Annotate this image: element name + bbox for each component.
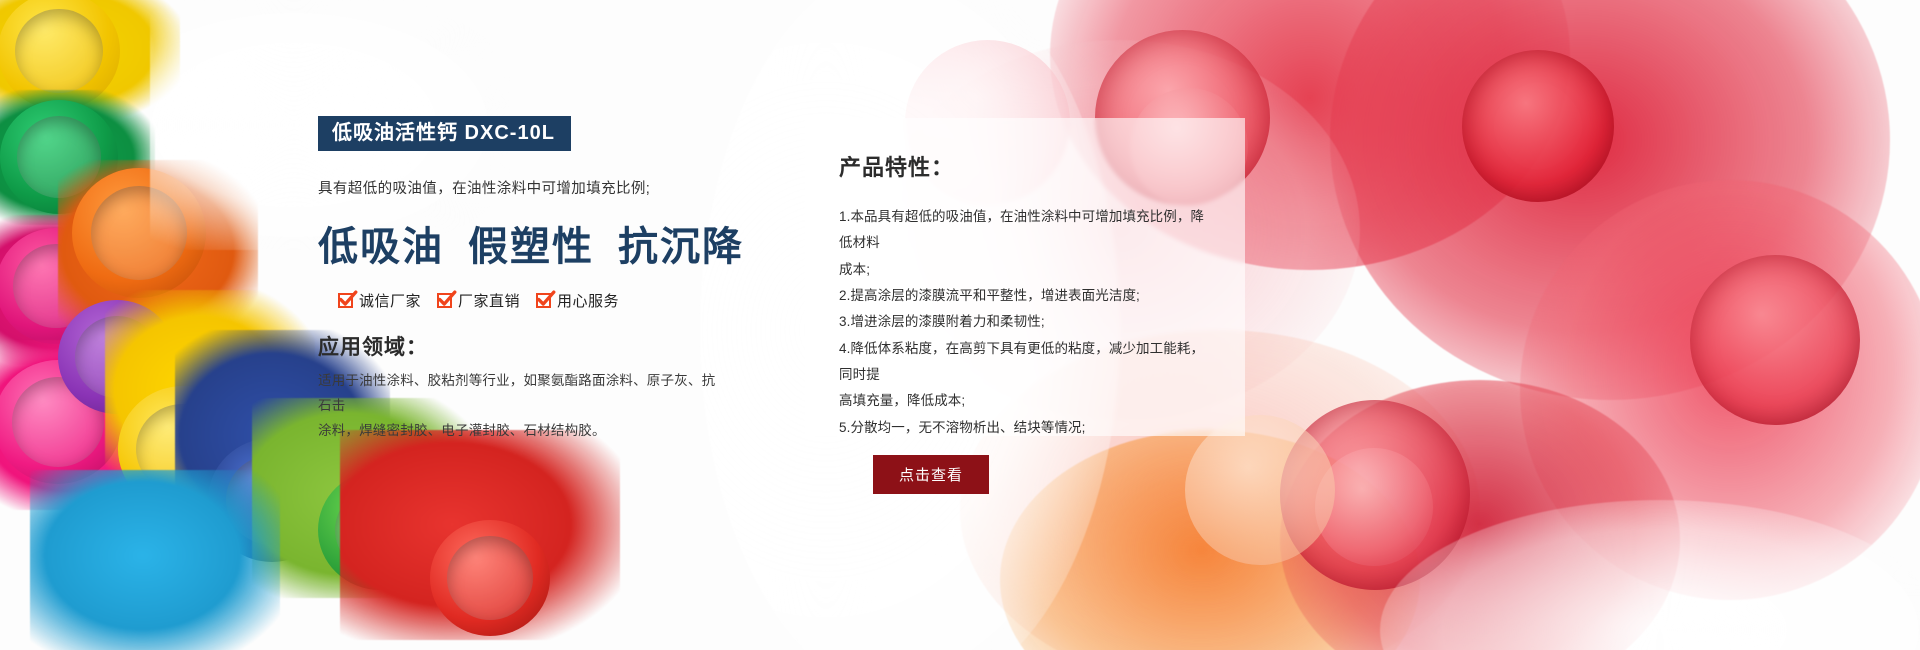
features-panel-title: 产品特性： xyxy=(839,150,1215,182)
feature-item: 成本; xyxy=(839,257,1215,283)
checkbox-checked-icon xyxy=(338,292,355,309)
view-details-button[interactable]: 点击查看 xyxy=(873,455,989,494)
paint-dish-red-6 xyxy=(1690,255,1860,425)
paint-smear-cyan xyxy=(30,470,280,650)
product-features-panel: 产品特性： 1.本品具有超低的吸油值，在油性涂料中可增加填充比例，降低材料 成本… xyxy=(805,118,1245,436)
headline-word-3: 抗沉降 xyxy=(618,224,744,269)
trust-badge-label-3: 用心服务 xyxy=(557,290,619,311)
checkbox-checked-icon xyxy=(536,292,553,309)
paint-pot-red-left xyxy=(430,520,550,636)
product-title-badge: 低吸油活性钙 DXC-10L xyxy=(318,116,571,151)
feature-item: 高填充量，降低成本; xyxy=(839,388,1215,414)
product-headline: 低吸油假塑性抗沉降 xyxy=(318,214,718,272)
application-body: 适用于油性涂料、胶粘剂等行业，如聚氨酯路面涂料、原子灰、抗石击 涂料，焊缝密封胶… xyxy=(318,369,718,444)
paint-dish-red-3 xyxy=(1462,50,1614,202)
feature-item: 2.提高涂层的漆膜流平和平整性，增进表面光洁度; xyxy=(839,283,1215,309)
application-heading: 应用领域： xyxy=(318,331,718,361)
checkbox-checked-icon xyxy=(437,292,454,309)
feature-item: 5.分散均一，无不溶物析出、结块等情况; xyxy=(839,415,1215,441)
trust-badge-3: 用心服务 xyxy=(536,290,619,311)
product-info-column: 低吸油活性钙 DXC-10L 具有超低的吸油值，在油性涂料中可增加填充比例; 低… xyxy=(318,116,718,444)
trust-badge-label-1: 诚信厂家 xyxy=(359,290,421,311)
headline-word-1: 低吸油 xyxy=(318,224,444,269)
headline-word-2: 假塑性 xyxy=(468,224,594,269)
trust-badge-row: 诚信厂家 厂家直销 用心服务 xyxy=(338,290,718,311)
trust-badge-1: 诚信厂家 xyxy=(338,290,421,311)
product-subtitle: 具有超低的吸油值，在油性涂料中可增加填充比例; xyxy=(318,177,718,198)
trust-badge-2: 厂家直销 xyxy=(437,290,520,311)
feature-item: 1.本品具有超低的吸油值，在油性涂料中可增加填充比例，降低材料 xyxy=(839,204,1215,257)
application-body-line-1: 适用于油性涂料、胶粘剂等行业，如聚氨酯路面涂料、原子灰、抗石击 xyxy=(318,369,718,419)
feature-item: 4.降低体系粘度，在高剪下具有更低的粘度，减少加工能耗，同时提 xyxy=(839,336,1215,389)
trust-badge-label-2: 厂家直销 xyxy=(458,290,520,311)
application-body-line-2: 涂料，焊缝密封胶、电子灌封胶、石材结构胶。 xyxy=(318,419,718,444)
feature-item: 3.增进涂层的漆膜附着力和柔韧性; xyxy=(839,309,1215,335)
promo-banner: 低吸油活性钙 DXC-10L 具有超低的吸油值，在油性涂料中可增加填充比例; 低… xyxy=(0,0,1920,650)
features-list: 1.本品具有超低的吸油值，在油性涂料中可增加填充比例，降低材料 成本; 2.提高… xyxy=(839,204,1215,441)
